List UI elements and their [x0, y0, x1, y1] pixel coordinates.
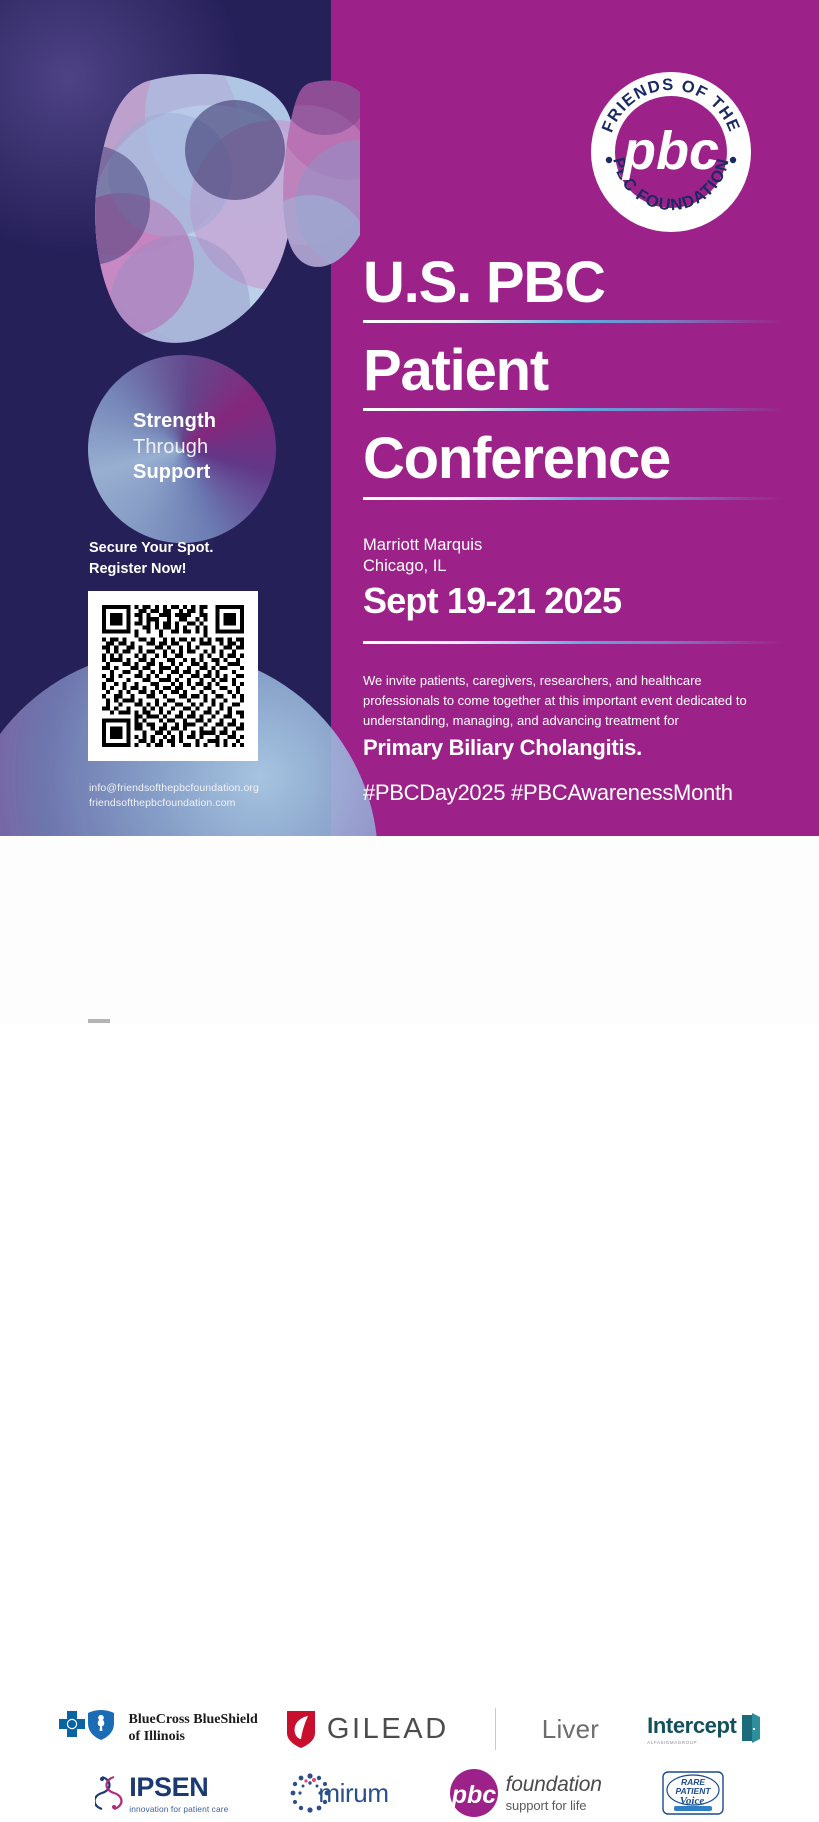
rpv-line-3: Voice [679, 1795, 704, 1807]
title-rule-4 [363, 641, 783, 644]
event-date: Sept 19-21 2025 [363, 580, 621, 622]
motto-line-3: Support [133, 460, 323, 486]
pbc-foundation-badge-logo: FRIENDS OF THE PBC FOUNDATION pbc [587, 68, 755, 236]
contact-website[interactable]: friendsofthepbcfoundation.com [89, 796, 339, 811]
badge-center-text: pbc [621, 121, 719, 181]
register-cta: Secure Your Spot. Register Now! [89, 538, 319, 579]
qr-code-container[interactable] [88, 591, 258, 761]
sponsor-liver: Liver [542, 1714, 599, 1745]
rare-patient-voice-icon: RARE PATIENT Voice [662, 1770, 724, 1816]
intercept-subtext: ALFASIGMAGROUP [647, 1740, 736, 1745]
sponsor-divider [495, 1708, 496, 1750]
intercept-door-icon [740, 1713, 762, 1743]
ipsen-text: IPSEN [129, 1772, 228, 1803]
sponsor-pbc-foundation: pbc foundation support for life [449, 1768, 602, 1818]
title-line-2: Patient [363, 340, 548, 401]
title-rule-3 [363, 497, 783, 500]
motto-block: Strength Through Support [133, 409, 323, 486]
sponsor-row-2: IPSEN innovation for patient care [0, 1764, 819, 1822]
ipsen-helix-icon [95, 1773, 123, 1813]
title-rule-1 [363, 320, 783, 323]
sponsor-mirum: mirum [288, 1771, 388, 1815]
venue-line-2: Chicago, IL [363, 556, 482, 577]
bcbs-icon [57, 1707, 121, 1751]
bcbs-line-1: BlueCross BlueShield [129, 1712, 258, 1729]
pbcf-subtext: support for life [506, 1798, 602, 1813]
contact-block: info@friendsofthepbcfoundation.org frien… [89, 781, 339, 811]
venue-block: Marriott Marquis Chicago, IL [363, 535, 482, 578]
bcbs-text: BlueCross BlueShield of Illinois [129, 1712, 258, 1745]
motto-line-1: Strength [133, 409, 323, 435]
pbc-foundation-circle-icon: pbc [449, 1768, 499, 1818]
sponsor-rare-patient-voice: RARE PATIENT Voice [662, 1770, 724, 1816]
ipsen-subtext: innovation for patient care [129, 1804, 228, 1814]
invitation-blurb: We invite patients, caregivers, research… [363, 671, 775, 730]
sponsor-ipsen: IPSEN innovation for patient care [95, 1772, 228, 1814]
sponsor-gilead: GILEAD [284, 1707, 449, 1751]
title-line-1: U.S. PBC [363, 252, 605, 313]
pbcf-circle-text: pbc [450, 1781, 496, 1809]
venue-line-1: Marriott Marquis [363, 535, 482, 556]
register-line-2: Register Now! [89, 559, 319, 580]
registration-qr-code[interactable] [98, 601, 248, 751]
hashtags: #PBCDay2025 #PBCAwarenessMonth [363, 780, 733, 806]
bottom-crop-mark [88, 1019, 110, 1023]
gilead-icon [284, 1707, 318, 1751]
abstract-liver-artwork [60, 55, 360, 355]
hero-section: Strength Through Support Secure Your Spo… [0, 0, 819, 836]
gilead-text: GILEAD [327, 1713, 449, 1746]
liver-text: Liver [542, 1714, 599, 1745]
title-rule-2 [363, 408, 783, 411]
sponsor-intercept: Intercept ALFASIGMAGROUP [647, 1713, 762, 1745]
motto-line-2: Through [133, 435, 323, 461]
bcbs-line-2: of Illinois [129, 1729, 258, 1746]
mirum-text: mirum [318, 1778, 388, 1809]
sponsor-bar: BlueCross BlueShield of Illinois GILEAD … [0, 836, 819, 1024]
register-line-1: Secure Your Spot. [89, 538, 319, 559]
pbcf-name-text: foundation [506, 1773, 602, 1797]
title-line-3: Conference [363, 428, 670, 489]
sponsor-bluecross-blueshield-of-illinois: BlueCross BlueShield of Illinois [57, 1707, 258, 1751]
conference-poster: Strength Through Support Secure Your Spo… [0, 0, 819, 1024]
sponsor-row-1: BlueCross BlueShield of Illinois GILEAD … [0, 1698, 819, 1760]
intercept-text: Intercept [647, 1713, 736, 1739]
contact-email[interactable]: info@friendsofthepbcfoundation.org [89, 781, 339, 796]
disease-name: Primary Biliary Cholangitis. [363, 735, 642, 761]
